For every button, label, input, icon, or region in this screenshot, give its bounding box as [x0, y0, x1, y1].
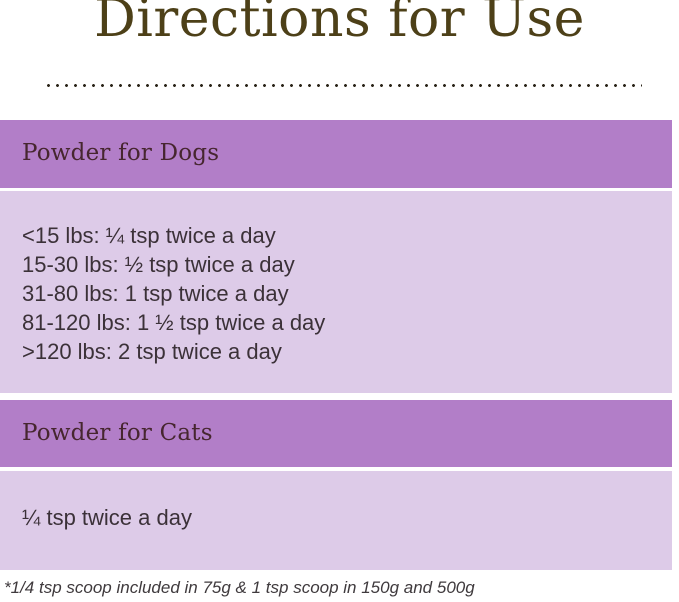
section-body-dogs: <15 lbs: ¼ tsp twice a day 15-30 lbs: ½ … [0, 191, 672, 393]
list-item: 81-120 lbs: 1 ½ tsp twice a day [22, 308, 325, 337]
dog-dosage-list: <15 lbs: ¼ tsp twice a day 15-30 lbs: ½ … [22, 221, 325, 366]
list-item: >120 lbs: 2 tsp twice a day [22, 337, 325, 366]
list-item: 15-30 lbs: ½ tsp twice a day [22, 250, 325, 279]
section-body-cats: ¼ tsp twice a day [0, 471, 672, 570]
section-header-dogs-label: Powder for Dogs [22, 140, 219, 166]
list-item: 31-80 lbs: 1 tsp twice a day [22, 279, 325, 308]
cat-dosage-line: ¼ tsp twice a day [22, 503, 192, 532]
dotted-divider [47, 84, 642, 87]
footnote: *1/4 tsp scoop included in 75g & 1 tsp s… [4, 577, 475, 599]
section-header-cats: Powder for Cats [0, 400, 672, 467]
section-header-cats-label: Powder for Cats [22, 420, 213, 446]
list-item: <15 lbs: ¼ tsp twice a day [22, 221, 325, 250]
section-header-dogs: Powder for Dogs [0, 120, 672, 188]
page-title: Directions for Use [0, 0, 679, 50]
